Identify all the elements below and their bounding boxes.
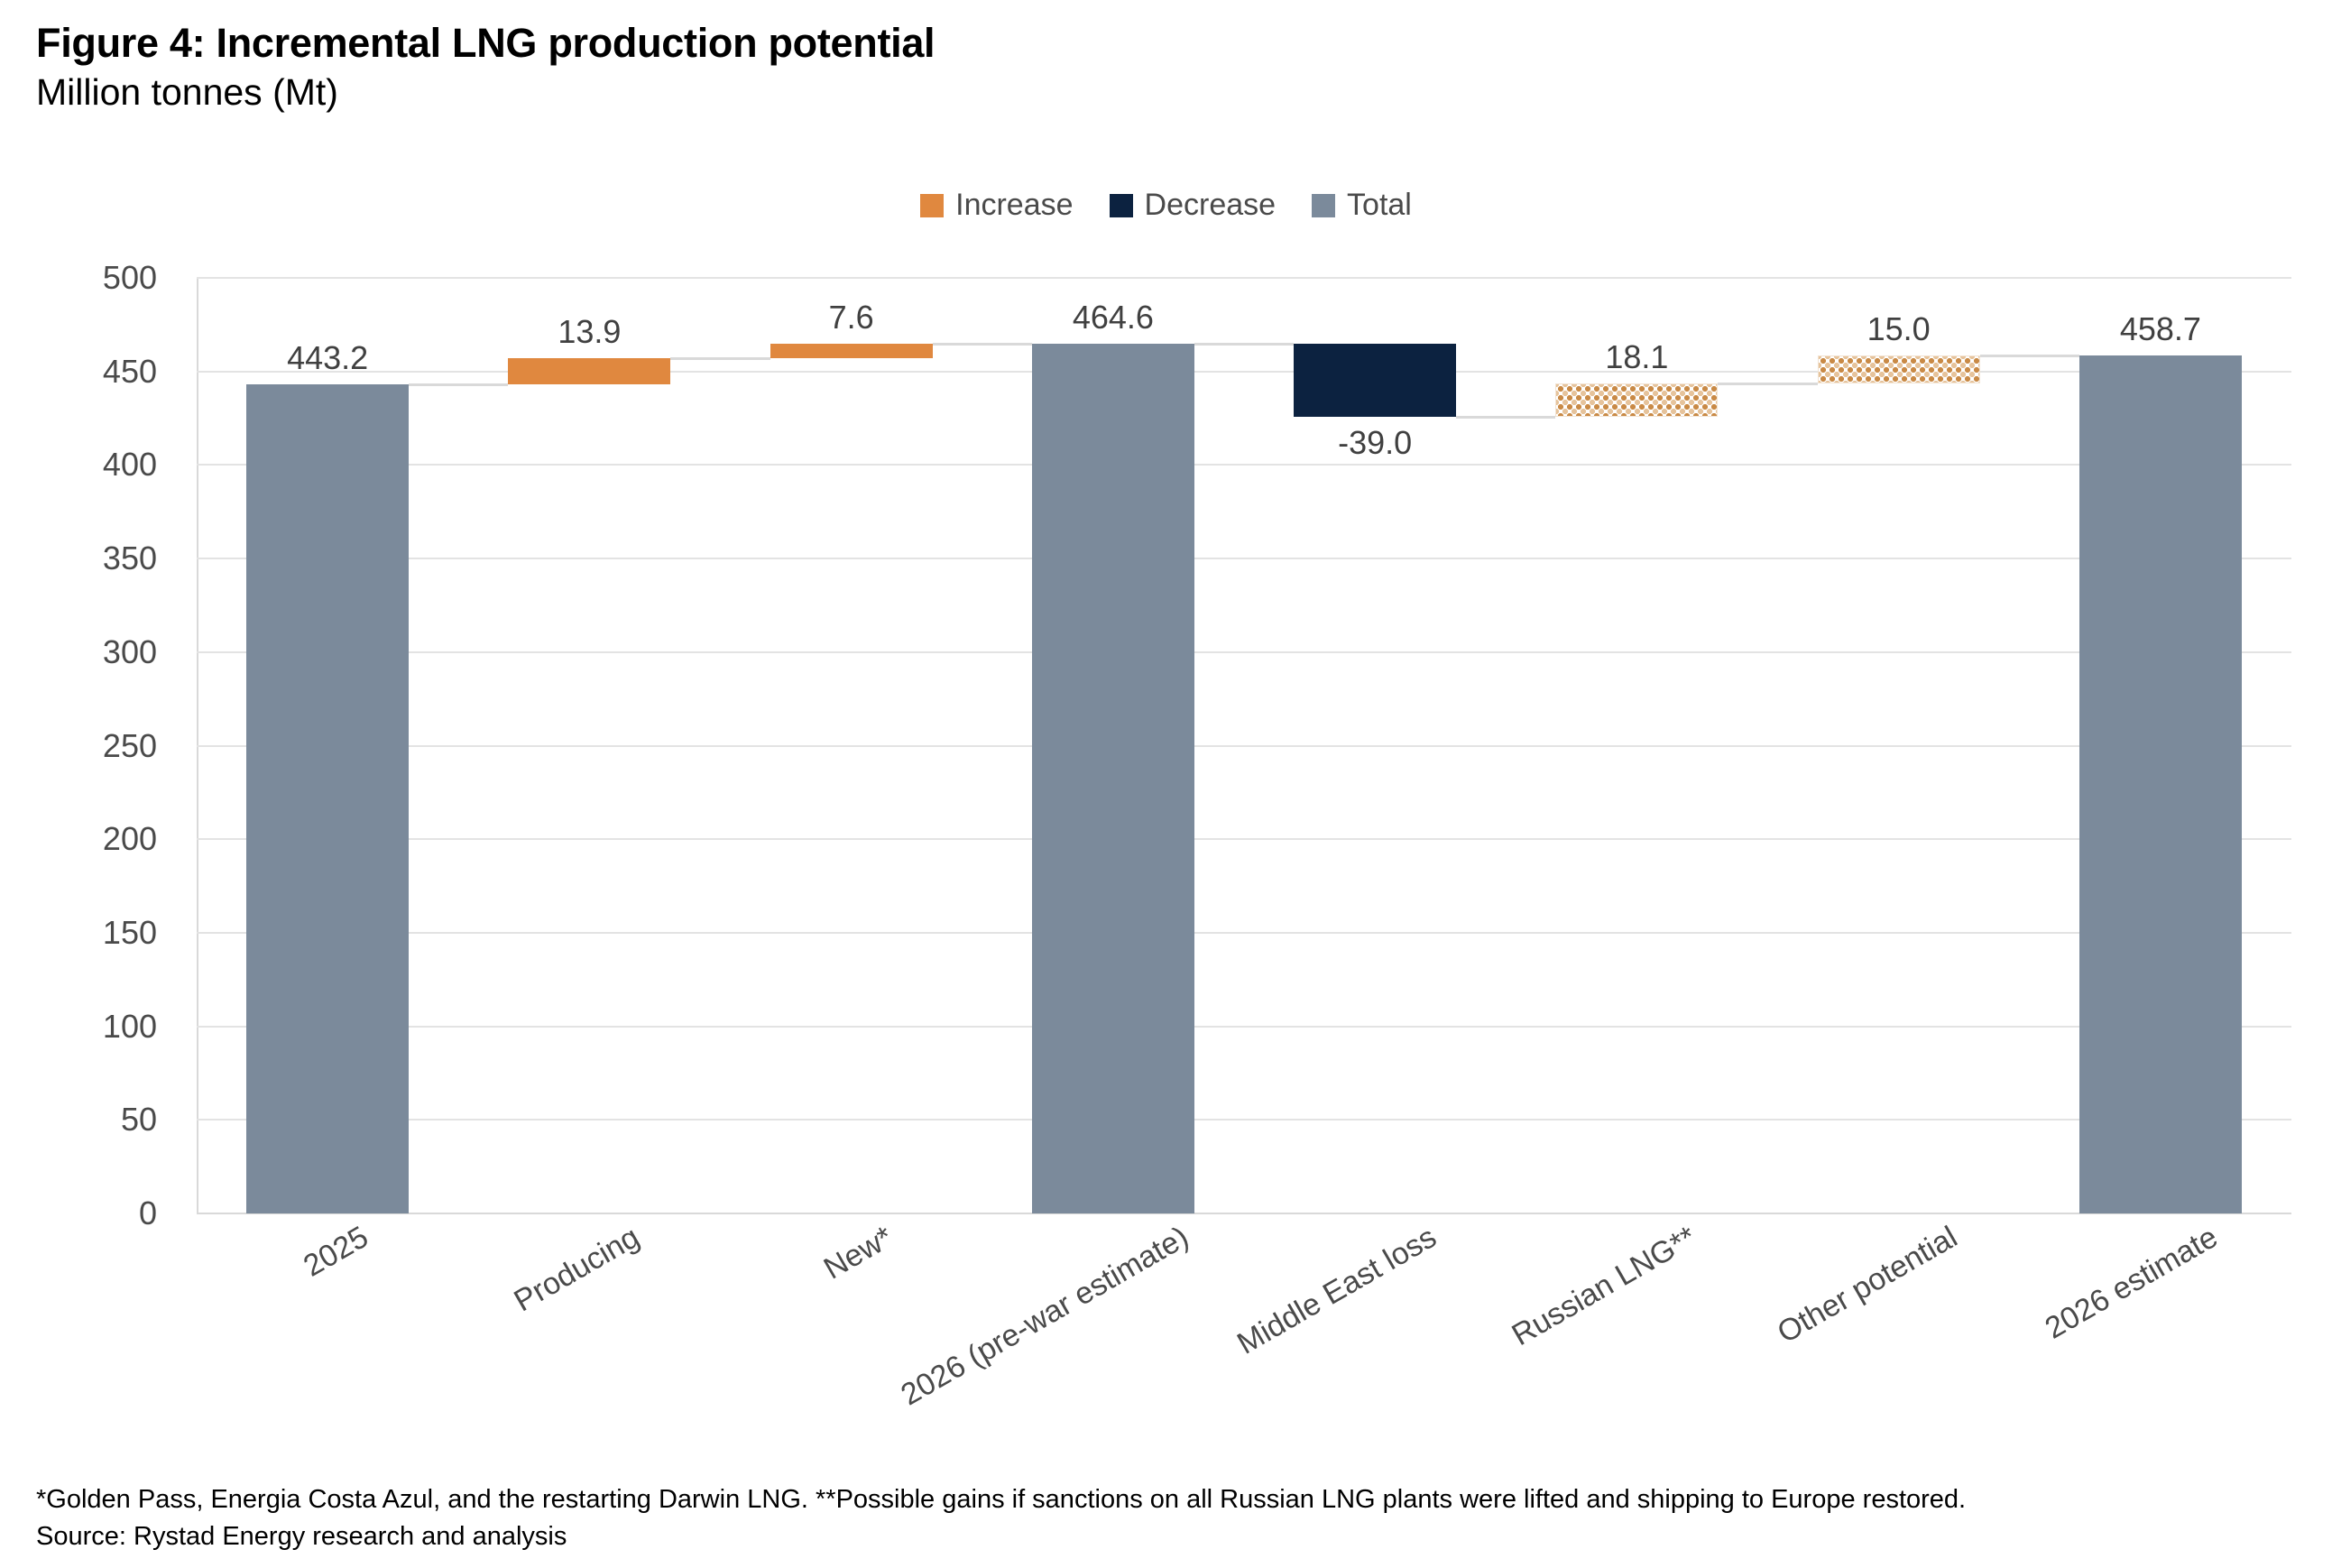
x-axis-tick-label: Russian LNG**	[1506, 1220, 1702, 1353]
bar-increase[interactable]	[508, 358, 670, 384]
bar-potential[interactable]	[1555, 383, 1718, 418]
x-axis-tick-label: Middle East loss	[1231, 1220, 1443, 1362]
y-axis: 050100150200250300350400450500	[0, 278, 177, 1213]
legend-item-increase[interactable]: Increase	[920, 188, 1073, 223]
page-title: Figure 4: Incremental LNG production pot…	[36, 20, 2111, 67]
waterfall-connector	[670, 357, 770, 360]
gridline	[197, 745, 2291, 747]
legend-label-decrease: Decrease	[1145, 188, 1277, 223]
bar-total[interactable]	[246, 384, 409, 1213]
x-axis-tick-label: 2025	[298, 1220, 374, 1285]
chart-legend: Increase Decrease Total	[0, 188, 2332, 223]
gridline	[197, 277, 2291, 279]
data-label: -39.0	[1338, 424, 1412, 462]
y-axis-tick-label: 300	[103, 633, 157, 671]
legend-label-increase: Increase	[955, 188, 1073, 223]
footnote-source: Source: Rystad Energy research and analy…	[36, 1518, 2291, 1555]
x-axis-tick-label: 2026 estimate	[2040, 1220, 2224, 1347]
legend-swatch-total	[1312, 194, 1335, 217]
data-label: 18.1	[1605, 338, 1668, 376]
y-axis-tick-label: 400	[103, 446, 157, 484]
x-axis-tick-label: Producing	[509, 1220, 646, 1319]
y-axis-tick-label: 100	[103, 1008, 157, 1046]
waterfall-connector	[1194, 343, 1294, 346]
data-label: 7.6	[829, 299, 874, 337]
bar-decrease[interactable]	[1294, 344, 1456, 417]
y-axis-tick-label: 50	[121, 1101, 157, 1139]
data-label: 458.7	[2120, 310, 2201, 348]
x-axis-tick-label: 2026 (pre-war estimate)	[895, 1220, 1194, 1413]
y-axis-tick-label: 450	[103, 353, 157, 391]
waterfall-connector	[1456, 416, 1555, 419]
gridline	[197, 1026, 2291, 1028]
footnotes: *Golden Pass, Energia Costa Azul, and th…	[36, 1481, 2291, 1555]
gridline	[197, 1213, 2291, 1214]
y-axis-tick-label: 500	[103, 259, 157, 297]
bar-total[interactable]	[2079, 355, 2242, 1213]
legend-item-total[interactable]: Total	[1312, 188, 1412, 223]
gridline	[197, 1119, 2291, 1121]
plot-area: 443.213.97.6464.6-39.018.115.0458.7	[197, 278, 2291, 1213]
gridline	[197, 651, 2291, 653]
title-block: Figure 4: Incremental LNG production pot…	[36, 20, 2111, 115]
y-axis-tick-label: 0	[139, 1194, 157, 1232]
legend-label-total: Total	[1347, 188, 1412, 223]
bar-increase[interactable]	[770, 344, 933, 358]
y-axis-tick-label: 150	[103, 914, 157, 952]
x-axis-tick-label: Other potential	[1772, 1220, 1964, 1351]
data-label: 15.0	[1867, 310, 1931, 348]
waterfall-connector	[933, 343, 1032, 346]
gridline	[197, 464, 2291, 466]
data-label: 13.9	[558, 313, 621, 351]
data-label: 464.6	[1073, 299, 1154, 337]
waterfall-connector	[1718, 383, 1817, 385]
footnote-note: *Golden Pass, Energia Costa Azul, and th…	[36, 1481, 2291, 1518]
x-axis: 2025ProducingNew*2026 (pre-war estimate)…	[197, 1220, 2291, 1454]
data-label: 443.2	[287, 339, 368, 377]
gridline	[197, 838, 2291, 840]
y-axis-tick-label: 250	[103, 727, 157, 765]
waterfall-connector	[1980, 355, 2079, 357]
legend-swatch-increase	[920, 194, 944, 217]
bar-potential[interactable]	[1818, 355, 1980, 383]
y-axis-tick-label: 200	[103, 820, 157, 858]
bar-total[interactable]	[1032, 344, 1194, 1213]
legend-item-decrease[interactable]: Decrease	[1110, 188, 1277, 223]
x-axis-tick-label: New*	[818, 1220, 899, 1287]
waterfall-connector	[409, 383, 508, 386]
chart-subtitle: Million tonnes (Mt)	[36, 70, 2111, 115]
legend-swatch-decrease	[1110, 194, 1133, 217]
gridline	[197, 932, 2291, 934]
y-axis-tick-label: 350	[103, 540, 157, 577]
gridline	[197, 558, 2291, 559]
